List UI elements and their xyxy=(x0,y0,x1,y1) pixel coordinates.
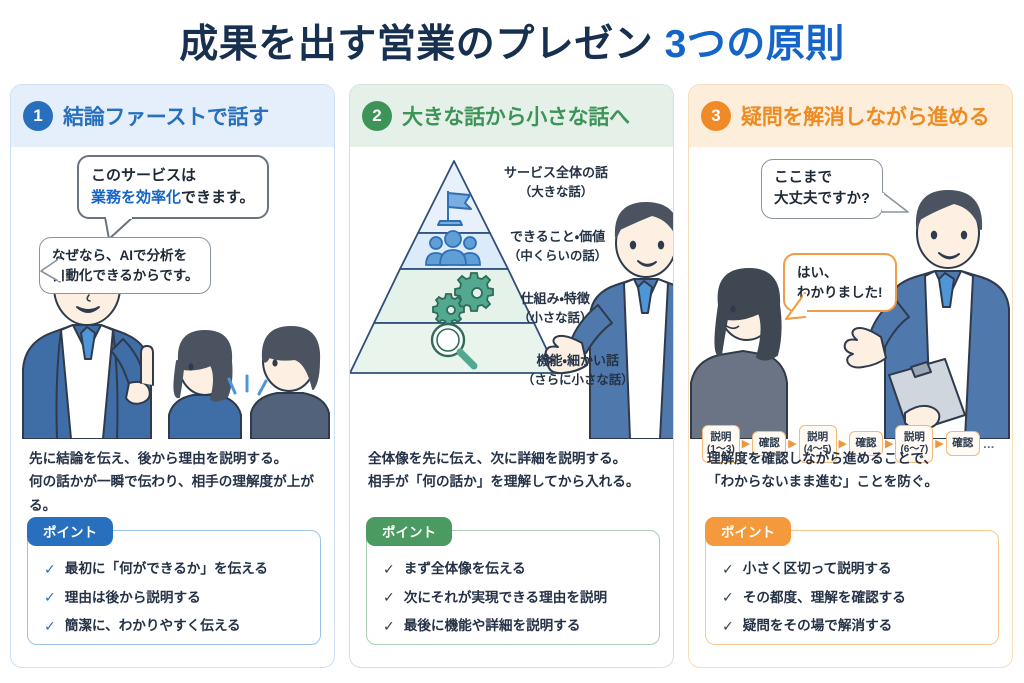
point-item: ✓小さく区切って説明する xyxy=(722,555,998,583)
desc-line-2: 何の話かが一瞬で伝わり、相手の理解度が上がる。 xyxy=(29,470,321,517)
bubble-highlight: 業務を効率化 xyxy=(91,189,181,206)
infographic-page: 成果を出す営業のプレゼン 3つの原則 1 結論ファーストで話す xyxy=(0,0,1024,683)
point-tab-label: ポイント xyxy=(705,517,791,546)
pyramid-label-3: 仕組み・特徴 （小さな話） xyxy=(518,289,592,327)
bubble-line-1: このサービスは xyxy=(91,165,255,187)
card-2-illustration: サービス全体の話 （大きな話） できること・価値 （中くらいの話） 仕組み・特徴… xyxy=(350,147,673,439)
check-icon: ✓ xyxy=(383,583,395,611)
desc-line-2: 相手が「何の話か」を理解してから入れる。 xyxy=(368,470,660,493)
card-3-heading: 疑問を解消しながら進める xyxy=(741,101,989,131)
bubble-line-1: ここまで xyxy=(774,168,870,189)
desc-line-2: 「わからないまま進む」ことを防ぐ。 xyxy=(707,470,999,493)
pyramid-label-text: サービス全体の話 xyxy=(504,165,608,180)
card-3-description: 理解度を確認しながら進めることで、 「わからないまま進む」ことを防ぐ。 xyxy=(707,447,999,494)
point-item: ✓疑問をその場で解消する xyxy=(722,612,998,640)
point-item: ✓簡潔に、わかりやすく伝える xyxy=(44,612,320,640)
bubble-tail xyxy=(40,256,62,286)
chip-label: 説明 xyxy=(807,431,828,443)
pyramid-label-text: 機能・細かい話 xyxy=(537,353,619,368)
card-principle-2: 2 大きな話から小さな話へ xyxy=(349,84,674,668)
pyramid-label-4: 機能・細かい話 （さらに小さな話） xyxy=(522,351,634,389)
point-text: 小さく区切って説明する xyxy=(743,555,892,582)
bubble-line-1: はい、 xyxy=(797,263,883,283)
bubble-line-1: なぜなら、AIで分析を xyxy=(52,246,198,266)
point-list: ✓最初に「何ができるか」を伝える ✓理由は後から説明する ✓簡潔に、わかりやすく… xyxy=(27,530,321,645)
card-1-number-badge: 1 xyxy=(23,101,53,131)
card-3-number-badge: 3 xyxy=(701,101,731,131)
point-text: 最初に「何ができるか」を伝える xyxy=(65,555,268,582)
speech-bubble-reply: はい、 わかりました! xyxy=(783,253,897,312)
desc-line-1: 理解度を確認しながら進めることで、 xyxy=(707,447,999,470)
speech-bubble-check-question: ここまで 大丈夫ですか? xyxy=(761,159,883,219)
speech-bubble-main-statement: このサービスは 業務を効率化できます。 xyxy=(77,155,269,219)
card-3-point-box: ポイント ✓小さく区切って説明する ✓その都度、理解を確認する ✓疑問をその場で… xyxy=(705,517,999,645)
pyramid-label-sub: （さらに小さな話） xyxy=(522,371,634,390)
card-2-number-badge: 2 xyxy=(362,101,392,131)
point-tab-label: ポイント xyxy=(366,517,452,546)
bubble-line-2: 自動化できるからです。 xyxy=(52,266,198,286)
point-item: ✓まず全体像を伝える xyxy=(383,555,659,583)
card-3-header: 3 疑問を解消しながら進める xyxy=(689,85,1012,147)
check-icon: ✓ xyxy=(722,555,734,583)
chip-label: 説明 xyxy=(904,431,925,443)
page-title: 成果を出す営業のプレゼン 3つの原則 xyxy=(0,13,1024,69)
listener-man xyxy=(251,327,329,439)
point-text: その都度、理解を確認する xyxy=(743,584,906,611)
bubble-rest: できます。 xyxy=(181,189,255,206)
listener-woman xyxy=(691,269,787,439)
card-principle-3: 3 疑問を解消しながら進める xyxy=(688,84,1013,668)
point-item: ✓最初に「何ができるか」を伝える xyxy=(44,555,320,583)
bubble-tail xyxy=(785,291,807,321)
bubble-line-2: 大丈夫ですか? xyxy=(774,189,870,210)
pyramid-label-sub: （中くらいの話） xyxy=(508,247,607,266)
pyramid-label-sub: （小さな話） xyxy=(518,309,592,328)
check-icon: ✓ xyxy=(44,612,56,640)
desc-line-1: 先に結論を伝え、後から理由を説明する。 xyxy=(29,447,321,470)
pyramid-label-text: 仕組み・特徴 xyxy=(520,291,589,306)
card-2-point-box: ポイント ✓まず全体像を伝える ✓次にそれが実現できる理由を説明 ✓最後に機能や… xyxy=(366,517,660,645)
point-text: 理由は後から説明する xyxy=(65,584,201,611)
card-2-heading: 大きな話から小さな話へ xyxy=(402,101,630,131)
point-list: ✓まず全体像を伝える ✓次にそれが実現できる理由を説明 ✓最後に機能や詳細を説明… xyxy=(366,530,660,645)
check-icon: ✓ xyxy=(44,555,56,583)
card-principle-1: 1 結論ファーストで話す xyxy=(10,84,335,668)
point-text: 疑問をその場で解消する xyxy=(743,612,893,639)
point-text: 最後に機能や詳細を説明する xyxy=(404,612,581,639)
card-1-illustration: このサービスは 業務を効率化できます。 なぜなら、AIで分析を 自動化できるから… xyxy=(11,147,334,439)
card-1-heading: 結論ファーストで話す xyxy=(63,101,269,131)
point-list: ✓小さく区切って説明する ✓その都度、理解を確認する ✓疑問をその場で解消する xyxy=(705,530,999,645)
point-item: ✓理由は後から説明する xyxy=(44,583,320,611)
bubble-tail xyxy=(882,190,912,216)
card-1-description: 先に結論を伝え、後から理由を説明する。 何の話かが一瞬で伝わり、相手の理解度が上… xyxy=(29,447,321,517)
pyramid-label-text: できること・価値 xyxy=(510,229,605,244)
aha-spark-icon xyxy=(229,376,266,394)
card-3-illustration: ここまで 大丈夫ですか? はい、 わかりました! xyxy=(689,147,1012,439)
card-1-header: 1 結論ファーストで話す xyxy=(11,85,334,147)
cards-row: 1 結論ファーストで話す xyxy=(10,84,1014,668)
speaker-man xyxy=(845,191,1009,439)
card-2-header: 2 大きな話から小さな話へ xyxy=(350,85,673,147)
title-main: 成果を出す営業のプレゼン xyxy=(179,23,664,66)
card-2-description: 全体像を先に伝え、次に詳細を説明する。 相手が「何の話か」を理解してから入れる。 xyxy=(368,447,660,494)
card-1-point-box: ポイント ✓最初に「何ができるか」を伝える ✓理由は後から説明する ✓簡潔に、わ… xyxy=(27,517,321,645)
pyramid-label-2: できること・価値 （中くらいの話） xyxy=(508,227,607,265)
pyramid-label-1: サービス全体の話 （大きな話） xyxy=(504,163,608,201)
desc-line-1: 全体像を先に伝え、次に詳細を説明する。 xyxy=(368,447,660,470)
bubble-line-2: 業務を効率化できます。 xyxy=(91,187,255,209)
point-text: 次にそれが実現できる理由を説明 xyxy=(404,584,607,611)
speech-bubble-reason: なぜなら、AIで分析を 自動化できるからです。 xyxy=(39,237,211,294)
point-item: ✓その都度、理解を確認する xyxy=(722,583,998,611)
pyramid-label-sub: （大きな話） xyxy=(504,183,608,202)
check-icon: ✓ xyxy=(722,612,734,640)
title-accent: 3つの原則 xyxy=(665,23,845,66)
point-item: ✓次にそれが実現できる理由を説明 xyxy=(383,583,659,611)
point-text: まず全体像を伝える xyxy=(404,555,526,582)
chip-label: 説明 xyxy=(710,431,731,443)
point-tab-label: ポイント xyxy=(27,517,113,546)
check-icon: ✓ xyxy=(383,612,395,640)
check-icon: ✓ xyxy=(44,583,56,611)
point-item: ✓最後に機能や詳細を説明する xyxy=(383,612,659,640)
check-icon: ✓ xyxy=(383,555,395,583)
point-text: 簡潔に、わかりやすく伝える xyxy=(65,612,241,639)
bubble-line-2: わかりました! xyxy=(797,283,883,303)
check-icon: ✓ xyxy=(722,583,734,611)
